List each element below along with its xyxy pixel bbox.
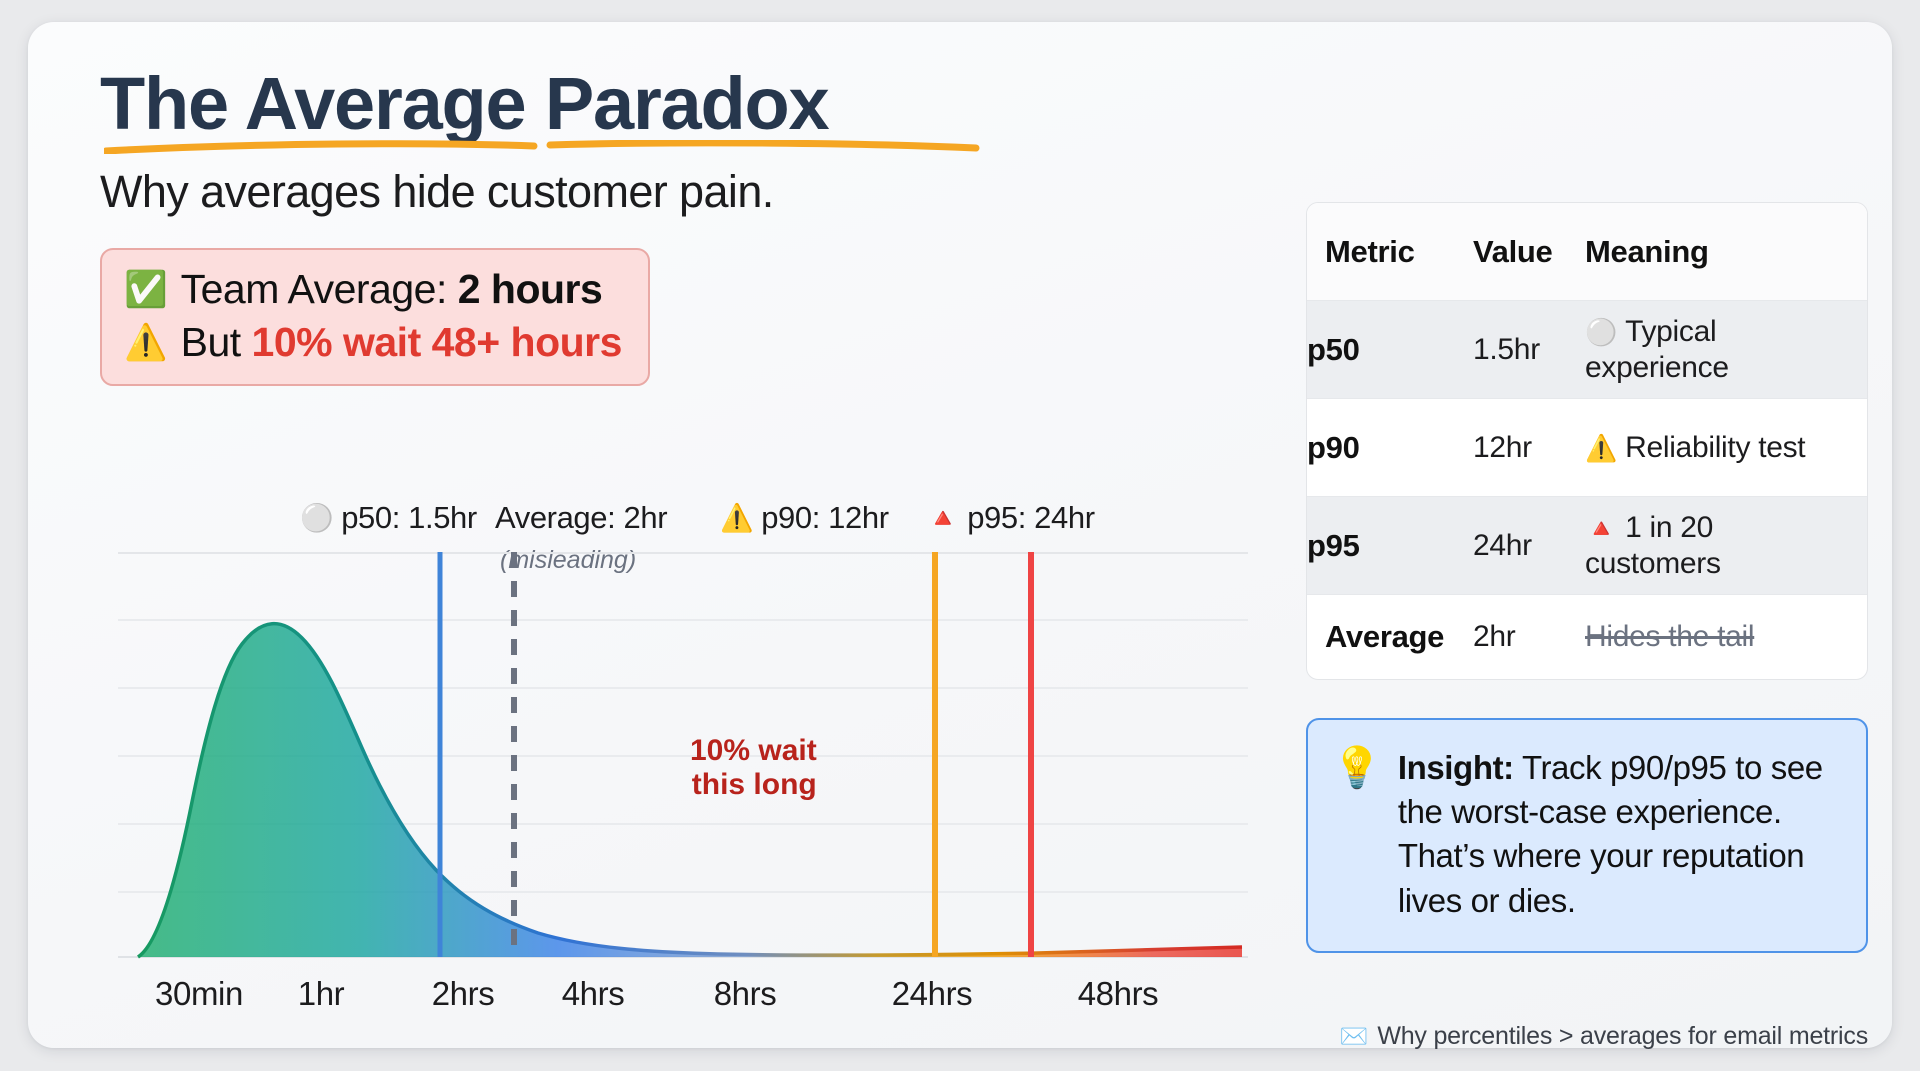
table-row: p90 12hr ⚠️Reliability test xyxy=(1307,399,1867,497)
lightbulb-icon: 💡 xyxy=(1332,748,1382,788)
alert-average-text: Team Average: 2 hours xyxy=(181,266,603,313)
red-triangle-icon: 🔺 xyxy=(926,505,959,532)
tail-callout: 10% wait this long xyxy=(690,734,817,801)
insight-box: 💡 Insight: Track p90/p95 to see the wors… xyxy=(1306,718,1868,953)
insight-label: Insight: xyxy=(1398,749,1514,786)
x-tick-2hrs: 2hrs xyxy=(432,975,495,1013)
envelope-icon: ✉️ xyxy=(1340,1023,1368,1050)
chart-x-axis: 30min 1hr 2hrs 4hrs 8hrs 24hrs 48hrs xyxy=(118,975,1248,1025)
distribution-chart: ⚪ p50: 1.5hr Average: 2hr ⚠️ p90: 12hr 🔺… xyxy=(100,500,1280,1040)
warning-triangle-icon: ⚠️ xyxy=(1585,433,1617,463)
marker-label-p90-text: p90: 12hr xyxy=(761,500,888,536)
column-header-value: Value xyxy=(1473,234,1585,270)
alert-average-value: 2 hours xyxy=(458,266,603,312)
infographic-card: The Average Paradox Why averages hide cu… xyxy=(28,22,1892,1048)
column-header-metric: Metric xyxy=(1307,234,1473,270)
row-metric-p50: p50 xyxy=(1307,318,1473,382)
left-column: The Average Paradox Why averages hide cu… xyxy=(100,64,1280,386)
tail-callout-line2: this long xyxy=(692,768,817,801)
metric-table: Metric Value Meaning p50 1.5hr ⚪Typical … xyxy=(1306,202,1868,680)
tail-callout-line1: 10% wait xyxy=(690,734,817,767)
row-metric-average: Average xyxy=(1307,619,1473,655)
marker-label-p90: ⚠️ p90: 12hr xyxy=(720,500,889,536)
page-title: The Average Paradox xyxy=(100,64,828,144)
marker-label-p95: 🔺 p95: 24hr xyxy=(926,500,1095,536)
page-title-wrap: The Average Paradox xyxy=(100,64,828,144)
marker-label-p50-text: p50: 1.5hr xyxy=(341,500,477,536)
red-triangle-icon: 🔺 xyxy=(1585,513,1617,543)
white-circle-icon: ⚪ xyxy=(1585,317,1617,347)
table-header-row: Metric Value Meaning xyxy=(1307,203,1867,301)
table-row: Average 2hr Hides the tail xyxy=(1307,595,1867,679)
marker-label-average-text: Average: 2hr xyxy=(495,500,667,536)
insight-text: Insight: Track p90/p95 to see the worst-… xyxy=(1398,746,1840,923)
marker-label-p95-text: p95: 24hr xyxy=(967,500,1094,536)
row-meaning-p90-text: Reliability test xyxy=(1625,431,1805,464)
row-metric-p90: p90 xyxy=(1307,416,1473,480)
chart-plot-area: 10% wait this long xyxy=(118,552,1248,959)
chart-marker-labels: ⚪ p50: 1.5hr Average: 2hr ⚠️ p90: 12hr 🔺… xyxy=(100,500,1280,546)
alert-line-average: ✅ Team Average: 2 hours xyxy=(124,266,622,313)
row-value-p95: 24hr xyxy=(1473,529,1585,563)
white-check-mark-icon: ✅ xyxy=(124,272,168,307)
row-value-average: 2hr xyxy=(1473,620,1585,654)
footer-note: ✉️ Why percentiles > averages for email … xyxy=(1306,1022,1868,1051)
row-value-p90: 12hr xyxy=(1473,431,1585,465)
row-meaning-average: Hides the tail xyxy=(1585,619,1867,655)
warning-triangle-icon: ⚠️ xyxy=(124,325,168,360)
row-meaning-p90: ⚠️Reliability test xyxy=(1585,430,1867,466)
white-circle-icon: ⚪ xyxy=(300,505,333,532)
x-tick-1hr: 1hr xyxy=(298,975,345,1013)
row-meaning-p95: 🔺1 in 20 customers xyxy=(1585,510,1867,582)
average-alert-box: ✅ Team Average: 2 hours ⚠️ But 10% wait … xyxy=(100,248,650,386)
table-row: p95 24hr 🔺1 in 20 customers xyxy=(1307,497,1867,595)
footer-text: Why percentiles > averages for email met… xyxy=(1377,1022,1868,1051)
row-value-p50: 1.5hr xyxy=(1473,333,1585,367)
alert-tail-text: But 10% wait 48+ hours xyxy=(181,319,622,366)
x-tick-48hrs: 48hrs xyxy=(1078,975,1159,1013)
column-header-meaning: Meaning xyxy=(1585,234,1867,270)
warning-triangle-icon: ⚠️ xyxy=(720,505,753,532)
table-row: p50 1.5hr ⚪Typical experience xyxy=(1307,301,1867,399)
row-metric-p95: p95 xyxy=(1307,514,1473,578)
page-subtitle: Why averages hide customer pain. xyxy=(100,166,1280,218)
distribution-curve-svg xyxy=(118,552,1248,959)
alert-tail-value: 10% wait 48+ hours xyxy=(252,319,622,365)
x-tick-4hrs: 4hrs xyxy=(562,975,625,1013)
marker-label-p50: ⚪ p50: 1.5hr xyxy=(300,500,477,536)
row-meaning-p50: ⚪Typical experience xyxy=(1585,314,1867,386)
title-underline-icon xyxy=(104,140,980,154)
x-tick-8hrs: 8hrs xyxy=(714,975,777,1013)
right-column: Metric Value Meaning p50 1.5hr ⚪Typical … xyxy=(1306,202,1868,953)
x-tick-30min: 30min xyxy=(155,975,243,1013)
marker-label-average: Average: 2hr xyxy=(495,500,667,536)
x-tick-24hrs: 24hrs xyxy=(892,975,973,1013)
alert-line-tail: ⚠️ But 10% wait 48+ hours xyxy=(124,319,622,366)
